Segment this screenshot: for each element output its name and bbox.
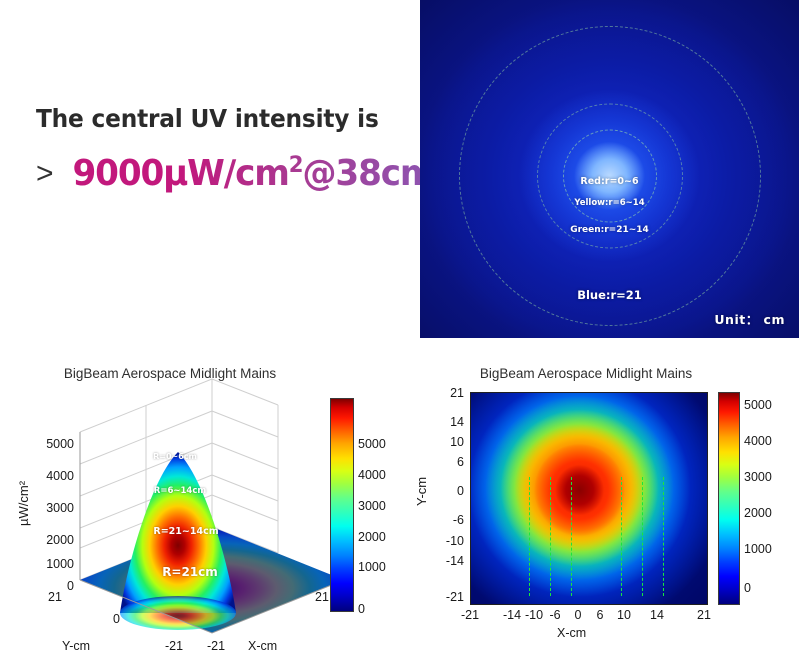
heatmap-colorbar-tick-1000: 1000 [744,542,772,556]
heatmap-y-tick-0: 0 [428,484,464,498]
heatmap-y-tick-21: 21 [428,386,464,400]
beam-label-blue: Blue:r=21 [577,288,642,302]
beam-label-yellow: Yellow:r=6~14 [574,198,644,208]
greater-than-icon: > [36,157,54,191]
heatmap-y-tick-minus21: -21 [428,590,464,604]
surface-x-tick-minus21: -21 [207,639,225,653]
heatmap-guide-minus14 [529,477,530,595]
surface-annotation-r21-14: R=21~14cm [153,526,218,537]
heatmap-guide-6 [621,477,622,595]
heatmap-y-tick-10: 10 [428,435,464,449]
heatmap-colorbar-tick-3000: 3000 [744,470,772,484]
uv-intensity-2d-heatmap: BigBeam Aerospace Midlight Mains 21 14 1… [400,358,799,642]
heatmap-colorbar [718,392,740,605]
surface-y-tick-21: 21 [48,590,62,604]
uv-intensity-3d-surface: BigBeam Aerospace Midlight Mains [0,358,400,642]
heatmap-canvas [470,392,708,605]
heatmap-x-tick-minus21: -21 [454,608,486,622]
surface-annotation-r21: R=21cm [162,565,218,579]
surface-colorbar-tick-5000: 5000 [358,437,386,451]
surface-annotation-r6-14: R=6~14cm [154,486,206,496]
heatmap-colorbar-tick-5000: 5000 [744,398,772,412]
surface-colorbar-tick-2000: 2000 [358,530,386,544]
heatmap-x-tick-minus6: -6 [541,608,569,622]
surface-colorbar-tick-1000: 1000 [358,560,386,574]
surface-z-tick-3000: 3000 [22,501,74,515]
uv-intensity-spec-sheet: The central UV intensity is > 9000µW/cm2… [0,0,799,642]
beam-label-green: Green:r=21~14 [570,225,649,235]
heatmap-x-tick-14: 14 [643,608,671,622]
intensity-distance: @38cm [302,153,434,194]
heatmap-colorbar-tick-0: 0 [744,581,751,595]
heatmap-x-tick-10: 10 [610,608,638,622]
heatmap-intensity-field [471,393,707,604]
surface-colorbar-tick-3000: 3000 [358,499,386,513]
beam-unit-label: Unit： cm [714,309,785,328]
headline-intensity-value: 9000µW/cm2@38cm [72,152,434,194]
surface-colorbar-tick-4000: 4000 [358,468,386,482]
surface-annotation-r0-6: R=0~6cm [153,452,197,461]
uv-beam-irradiance-photo: Red:r=0~6 Yellow:r=6~14 Green:r=21~14 Bl… [420,0,799,338]
heatmap-guide-14 [663,477,664,595]
heatmap-y-tick-minus14: -14 [428,554,464,568]
heatmap-guide-minus10 [550,477,551,595]
heatmap-colorbar-tick-2000: 2000 [744,506,772,520]
surface-z-tick-2000: 2000 [22,533,74,547]
beam-label-red: Red:r=0~6 [580,176,638,187]
intensity-exponent: 2 [288,152,302,178]
surface-y-tick-0: 0 [113,612,120,626]
heatmap-y-tick-minus10: -10 [428,534,464,548]
surface-colorbar [330,398,354,612]
heatmap-plot-title: BigBeam Aerospace Midlight Mains [456,366,716,381]
heatmap-y-tick-14: 14 [428,415,464,429]
heatmap-guide-minus6 [571,477,572,595]
surface-y-axis-label: Y-cm [62,639,90,653]
surface-colorbar-tick-0: 0 [358,602,365,616]
intensity-number: 9000µW/cm [72,153,288,194]
heatmap-y-tick-6: 6 [428,455,464,469]
heatmap-y-tick-minus6: -6 [428,513,464,527]
heatmap-y-axis-label: Y-cm [414,477,429,506]
surface-z-tick-1000: 1000 [22,557,74,571]
surface-x-axis-label: X-cm [248,639,277,653]
surface-z-tick-4000: 4000 [22,469,74,483]
heatmap-x-tick-21: 21 [690,608,718,622]
heatmap-x-tick-6: 6 [589,608,611,622]
surface-x-tick-21: 21 [315,590,329,604]
heatmap-x-tick-0: 0 [567,608,589,622]
headline-primary-text: The central UV intensity is [36,104,379,133]
surface-y-tick-minus21: -21 [165,639,183,653]
headline-value-row: > 9000µW/cm2@38cm [36,152,443,194]
headline-block: The central UV intensity is > 9000µW/cm2… [0,0,420,340]
surface-z-tick-5000: 5000 [22,437,74,451]
heatmap-colorbar-tick-4000: 4000 [744,434,772,448]
heatmap-x-axis-label: X-cm [557,626,586,640]
heatmap-guide-10 [642,477,643,595]
